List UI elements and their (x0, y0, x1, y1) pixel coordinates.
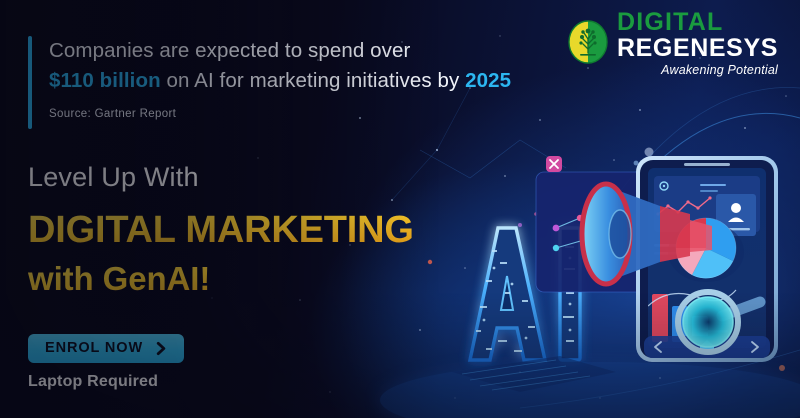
headline-main: DIGITAL MARKETING (28, 206, 414, 254)
brand-logo[interactable]: DIGITAL REGENESYS Awakening Potential (568, 10, 778, 78)
stat-line-1: Companies are expected to spend over (49, 37, 511, 65)
headline-pre: Level Up With (28, 160, 414, 194)
enrol-now-label: ENROL NOW (45, 341, 143, 356)
stat-line-2-rest: on AI for marketing initiatives by (161, 69, 465, 92)
stat-amount: $110 billion (49, 69, 161, 92)
accent-bar (28, 36, 32, 129)
stat-year: 2025 (465, 69, 511, 92)
logo-line-2: REGENESYS (617, 35, 778, 61)
enrol-now-button[interactable]: ENROL NOW (28, 334, 184, 363)
promo-banner: Companies are expected to spend over $11… (0, 0, 800, 418)
source-text: Source: Gartner Report (49, 108, 511, 120)
cta-block: ENROL NOW Laptop Required (28, 334, 184, 391)
logo-tagline: Awakening Potential (617, 62, 778, 78)
headline-block: Level Up With DIGITAL MARKETING with Gen… (28, 160, 414, 300)
laptop-required-note: Laptop Required (28, 373, 184, 391)
stat-line-2: $110 billion on AI for marketing initiat… (49, 67, 511, 95)
headline-sub: with GenAI! (28, 258, 414, 300)
chevron-right-icon (154, 341, 169, 356)
logo-line-1: DIGITAL (617, 10, 778, 35)
stat-callout: Companies are expected to spend over $11… (28, 36, 511, 129)
tree-emblem-icon (568, 20, 608, 69)
